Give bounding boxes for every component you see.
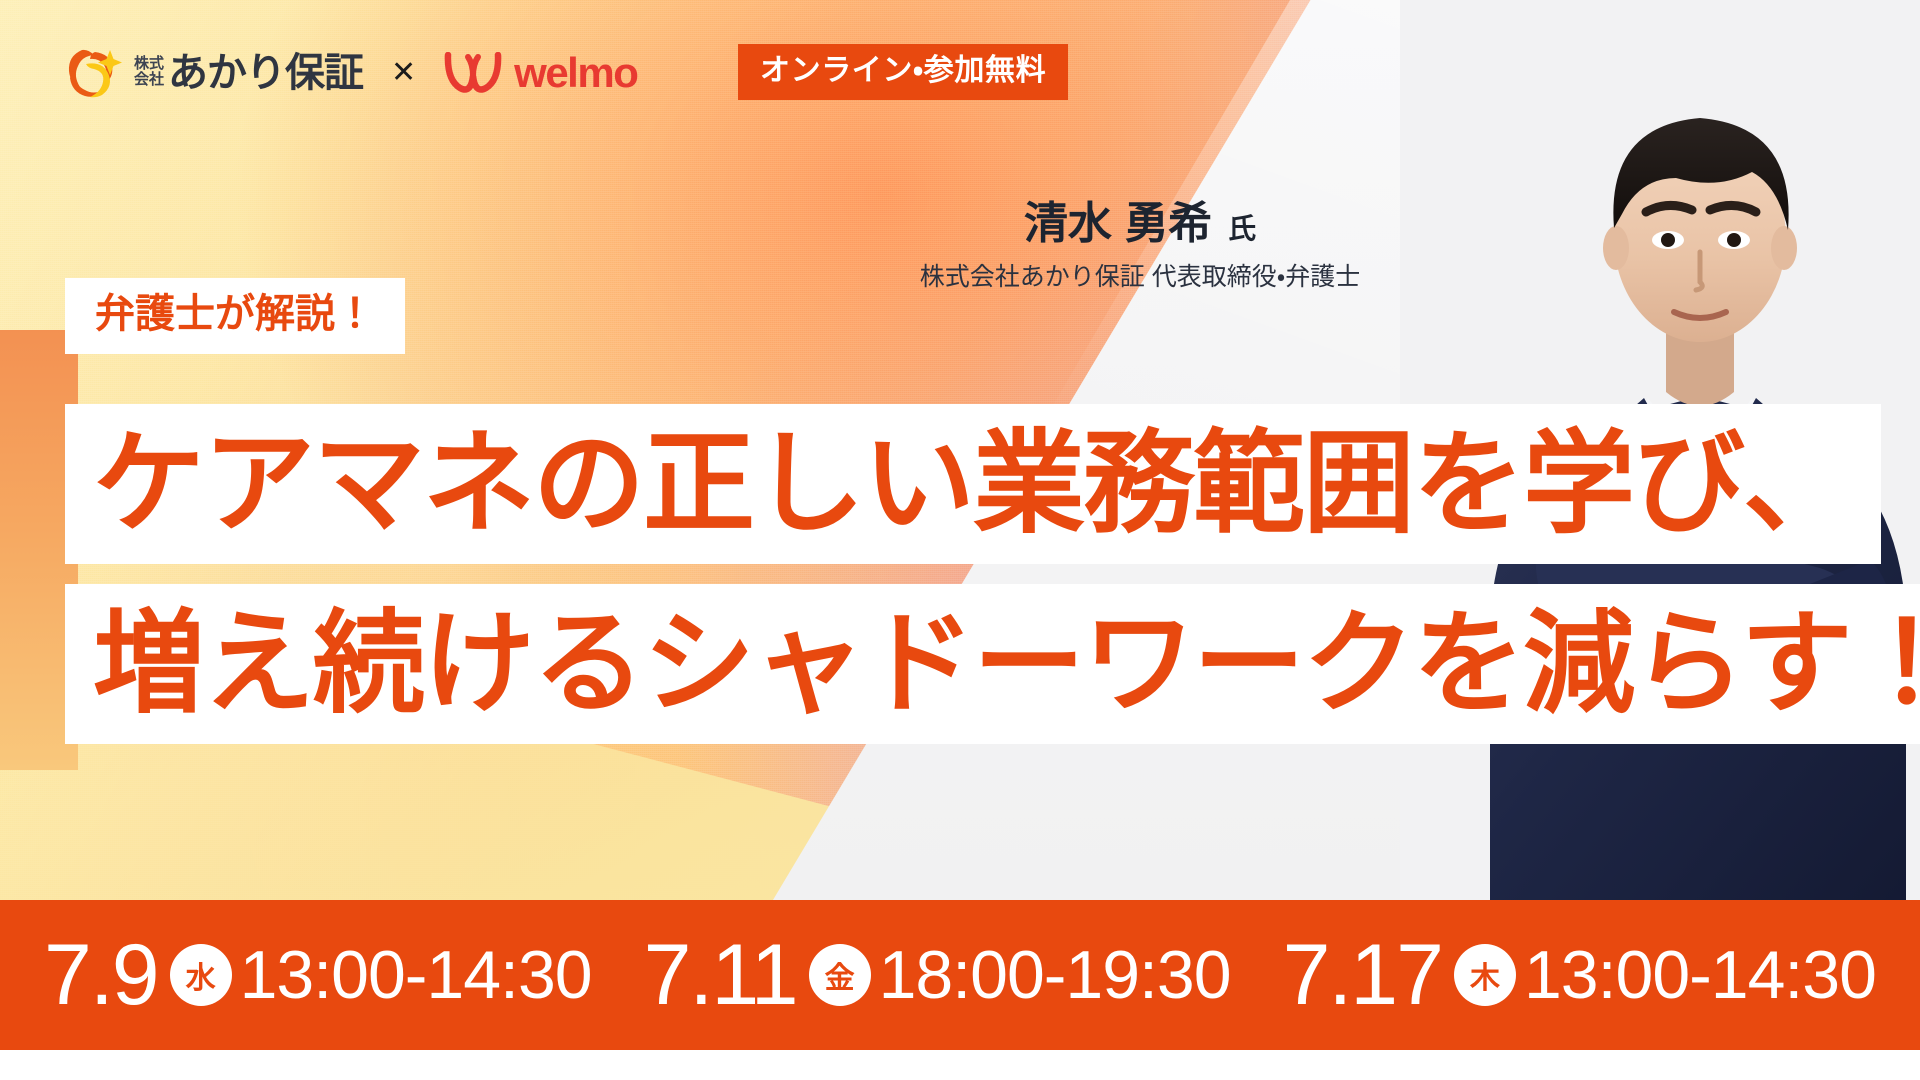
akari-company-name: あかり保証 (168, 53, 363, 93)
schedule-item: 7.17 木 13:00-14:30 (1283, 932, 1876, 1018)
schedule-time: 13:00-14:30 (240, 941, 592, 1009)
akari-hosho-logo: 株式 会社 あかり保証 (60, 42, 363, 104)
logo-row: 株式 会社 あかり保証 ✕ welmo (60, 36, 637, 110)
logo-separator-x-icon: ✕ (391, 58, 416, 88)
akari-swirl-logo-mark-icon (60, 42, 124, 104)
webinar-banner: 株式 会社 あかり保証 ✕ welmo オンライン・参加無料 清水 勇希 氏 (0, 0, 1920, 1080)
akari-prefix-line1: 株式 (134, 56, 164, 72)
akari-prefix-line2: 会社 (134, 72, 164, 88)
akari-company-prefix: 株式 会社 (134, 56, 164, 93)
welmo-wordmark: welmo (514, 52, 637, 94)
online-free-badge: オンライン・参加無料 (738, 44, 1068, 100)
speaker-title: 株式会社あかり保証 代表取締役・弁護士 (870, 262, 1410, 292)
lead-badge: 弁護士が解説！ (65, 278, 405, 354)
schedule-time: 13:00-14:30 (1524, 941, 1876, 1009)
welmo-logo-mark-icon (444, 52, 502, 94)
schedule-weekday-badge: 木 (1454, 944, 1516, 1006)
speaker-name: 清水 勇希 (1024, 200, 1212, 248)
akari-logo-text: 株式 会社 あかり保証 (134, 53, 363, 93)
schedule-time: 18:00-19:30 (879, 941, 1231, 1009)
schedule-weekday-badge: 水 (170, 944, 232, 1006)
welmo-logo: welmo (444, 52, 637, 94)
bottom-white-strip (0, 1050, 1920, 1080)
speaker-info: 清水 勇希 氏 株式会社あかり保証 代表取締役・弁護士 (870, 200, 1410, 292)
schedule-weekday-badge: 金 (809, 944, 871, 1006)
schedule-item: 7.9 水 13:00-14:30 (44, 932, 592, 1018)
speaker-honorific: 氏 (1228, 214, 1256, 245)
speaker-name-row: 清水 勇希 氏 (870, 200, 1410, 248)
schedule-date: 7.11 (644, 932, 797, 1018)
headline-line-1: ケアマネの正しい業務範囲を学び、 (65, 404, 1881, 564)
schedule-item: 7.11 金 18:00-19:30 (644, 932, 1231, 1018)
headline-line-2: 増え続けるシャドーワークを減らす！ (65, 584, 1920, 744)
schedule-date: 7.9 (44, 932, 158, 1018)
schedule-bar: 7.9 水 13:00-14:30 7.11 金 18:00-19:30 7.1… (0, 900, 1920, 1050)
schedule-date: 7.17 (1283, 932, 1442, 1018)
